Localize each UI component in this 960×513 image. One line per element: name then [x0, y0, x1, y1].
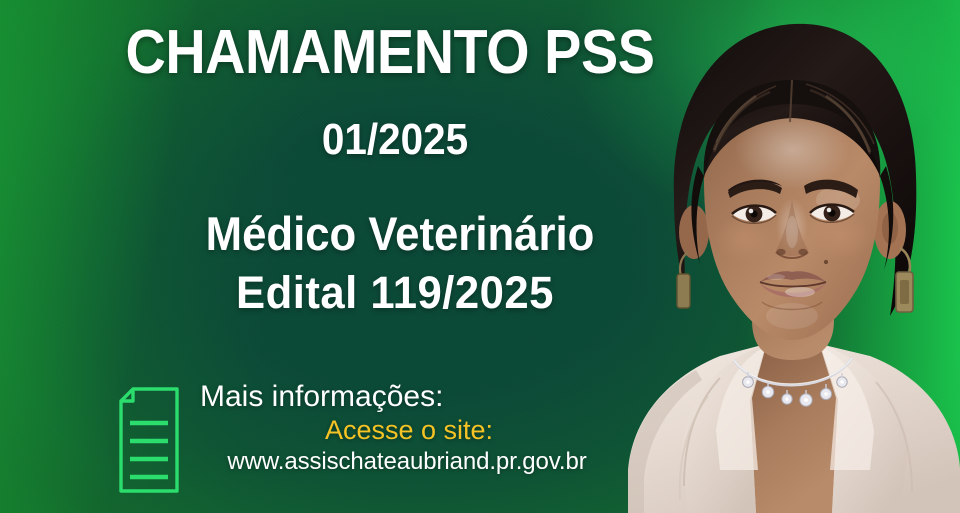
access-site-label: Acesse o site:: [194, 414, 618, 447]
process-number: 01/2025: [32, 118, 759, 162]
website-url[interactable]: www.assischateaubriand.pr.gov.br: [194, 447, 618, 476]
page-title: CHAMAMENTO PSS: [39, 22, 741, 84]
document-lines-icon: [118, 386, 180, 494]
more-info-block: Mais informações: Acesse o site: www.ass…: [118, 378, 618, 494]
more-info-label: Mais informações:: [194, 380, 618, 414]
poster-canvas: CHAMAMENTO PSS 01/2025 Médico Veterinári…: [0, 0, 960, 513]
info-text-group: Mais informações: Acesse o site: www.ass…: [194, 378, 618, 476]
edital-number: Edital 119/2025: [12, 270, 778, 315]
role-title: Médico Veterinário: [28, 210, 772, 257]
